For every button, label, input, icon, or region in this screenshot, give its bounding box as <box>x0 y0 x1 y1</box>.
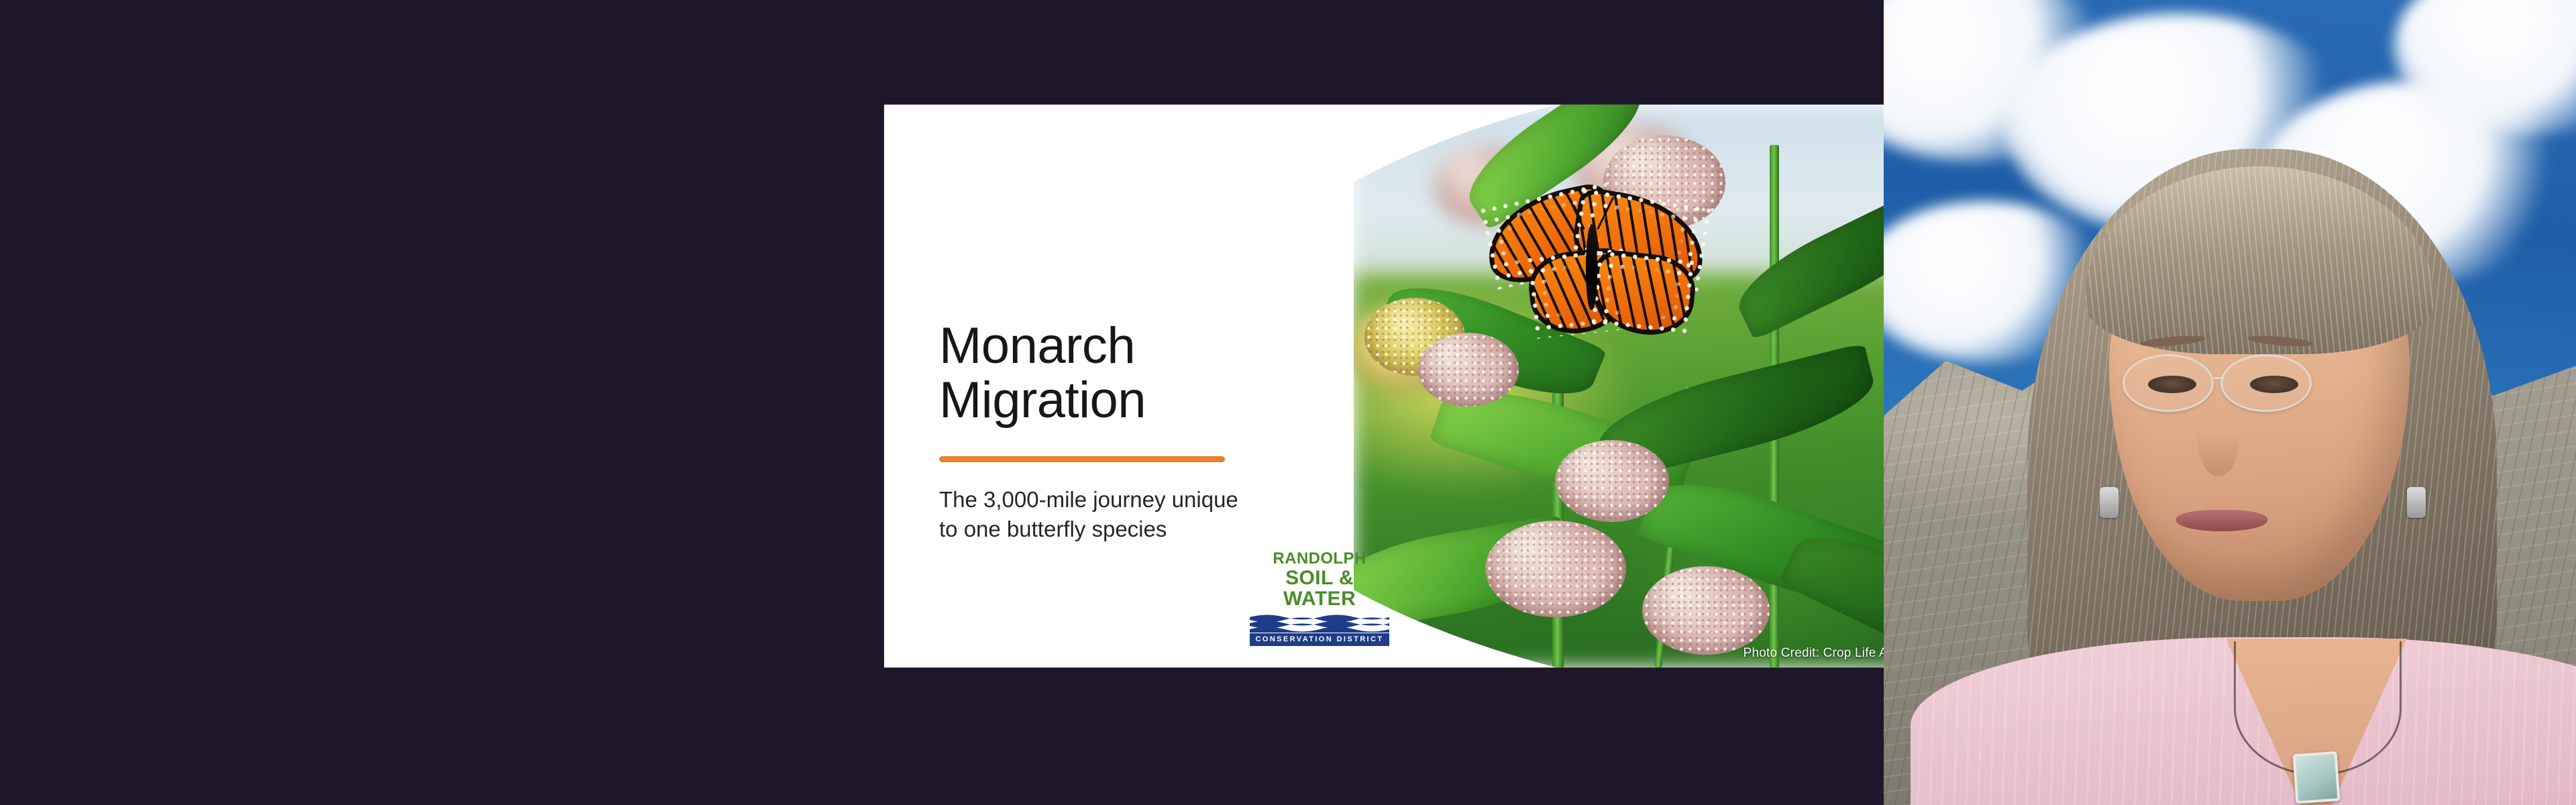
milkweed-bloom <box>1642 566 1770 655</box>
butterfly-body <box>1586 224 1597 310</box>
randolph-soil-water-logo: RANDOLPH SOIL & WATER CONSERVATION DISTR… <box>1250 551 1389 646</box>
logo-line-1: RANDOLPH <box>1250 551 1389 568</box>
earring-right <box>2407 487 2426 518</box>
shared-screen-region[interactable]: Photo Credit: Crop Life America Monarch … <box>0 0 1884 805</box>
slide-subtitle: The 3,000-mile journey unique to one but… <box>939 485 1248 544</box>
app-root: Photo Credit: Crop Life America Monarch … <box>0 0 2576 805</box>
logo-water-waves-icon <box>1250 612 1389 633</box>
speaker-video-tile[interactable] <box>1884 0 2576 805</box>
necklace-pendant <box>2292 751 2340 804</box>
eyeglasses-bridge <box>2214 377 2224 379</box>
milkweed-bloom <box>1485 521 1626 617</box>
slide-title: Monarch Migration <box>939 319 1315 427</box>
monarch-butterfly <box>1485 189 1707 343</box>
slide-photo: Photo Credit: Crop Life America <box>1354 105 1884 667</box>
speaker-person <box>1984 114 2576 805</box>
earring-left <box>2100 487 2118 518</box>
logo-conservation-district-bar: CONSERVATION DISTRICT <box>1250 633 1389 646</box>
hindwing-right <box>1589 248 1699 339</box>
logo-line-2: SOIL & WATER <box>1250 568 1389 609</box>
photo-credit-caption: Photo Credit: Crop Life America <box>1743 646 1884 661</box>
title-accent-rule <box>939 456 1225 462</box>
mouth <box>2176 510 2267 531</box>
nose <box>2198 402 2239 476</box>
milkweed-butterfly-photo: Photo Credit: Crop Life America <box>1354 105 1884 667</box>
milkweed-bloom <box>1555 440 1669 522</box>
presentation-slide[interactable]: Photo Credit: Crop Life America Monarch … <box>884 105 1884 667</box>
milkweed-bloom <box>1418 333 1519 407</box>
